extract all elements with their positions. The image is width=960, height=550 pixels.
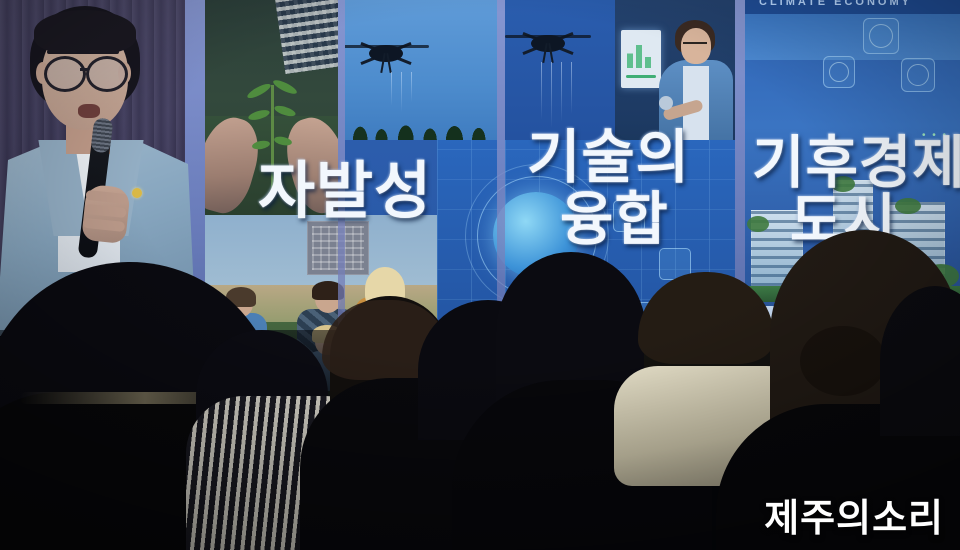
lapel-pin-icon (132, 188, 142, 198)
drone-spray-line (551, 62, 552, 128)
glasses-icon (44, 56, 86, 92)
glasses-icon (86, 56, 128, 92)
drone-spray-line (561, 62, 562, 122)
glasses-icon (683, 42, 707, 50)
wifi-signal-icon (863, 18, 899, 54)
drone-spray-line (571, 62, 572, 114)
speaker-mouth (78, 104, 100, 118)
drone-spray-line (391, 72, 392, 106)
drone-spray-line (541, 62, 542, 120)
rooftop-greenery (895, 198, 921, 214)
headline-voluntary: 자발성 (258, 160, 432, 222)
leaf-tech-icon (823, 56, 855, 88)
headline-climate-line1: 기후경제 (752, 135, 960, 192)
ponytail-attendee (800, 326, 886, 396)
climate-economy-banner: CLIMATE ECONOMY (745, 0, 960, 14)
plaid-sleeve (275, 0, 338, 74)
drone-icon (531, 34, 565, 51)
bar-chart-graphic (627, 44, 655, 68)
chart-progress-bar (626, 75, 656, 78)
headline-technology-line1: 기술의 (527, 128, 690, 186)
panel-sky (745, 14, 960, 60)
glasses-bridge (80, 68, 88, 71)
watermark-logo: 제주의소리 (764, 487, 944, 542)
climate-economy-banner-text: CLIMATE ECONOMY (759, 0, 912, 8)
speaker-fringe (34, 10, 136, 54)
eyebrow (89, 50, 119, 54)
headline-technology-line2: 융합 (560, 190, 669, 248)
energy-icon (901, 58, 935, 92)
leaf (271, 78, 298, 97)
speaker-hand (81, 184, 131, 244)
drone-spray-line (401, 72, 402, 112)
drone-spray-line (411, 72, 412, 102)
handheld-device (659, 96, 673, 110)
panel-image-drone-forest (345, 0, 497, 140)
drone-icon (369, 44, 403, 61)
leaf (245, 81, 272, 100)
treeline (345, 114, 497, 140)
rooftop-greenery (747, 216, 769, 232)
eyebrow (47, 50, 77, 54)
chart-display-screen (621, 30, 661, 88)
panel-image-drone-spraying (505, 0, 615, 140)
photo-canvas: CLIMATE ECONOMY • • • 자발성 기술의 융합 기후경제 도시 (0, 0, 960, 550)
